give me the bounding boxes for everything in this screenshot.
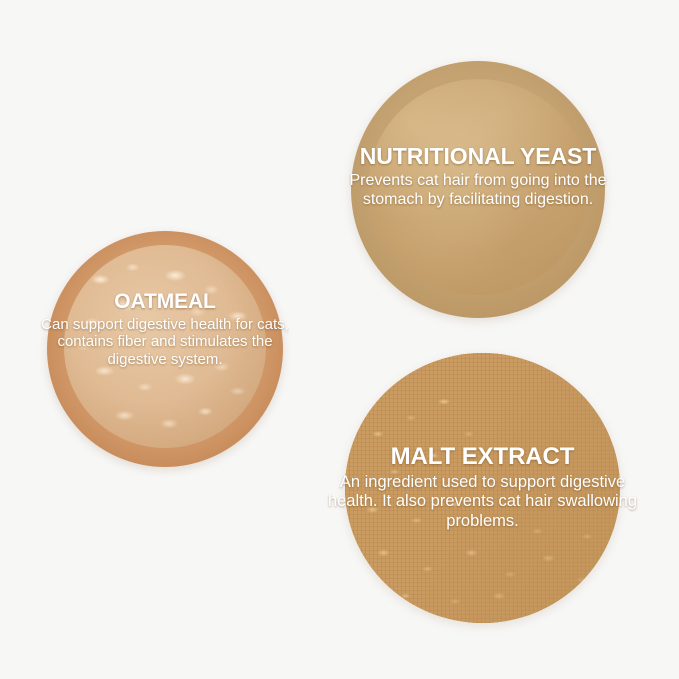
ingredient-infographic: OATMEAL Can support digestive health for… — [0, 0, 679, 679]
oatmeal-description: Can support digestive health for cats, c… — [28, 316, 302, 369]
yeast-caption: NUTRITIONAL YEAST Prevents cat hair from… — [331, 145, 626, 209]
ingredient-card-malt-extract[interactable]: MALT EXTRACT An ingredient used to suppo… — [345, 353, 620, 623]
malt-description: An ingredient used to support digestive … — [323, 473, 642, 531]
malt-caption: MALT EXTRACT An ingredient used to suppo… — [323, 445, 642, 531]
ingredient-card-nutritional-yeast[interactable]: NUTRITIONAL YEAST Prevents cat hair from… — [351, 61, 605, 318]
oatmeal-caption: OATMEAL Can support digestive health for… — [28, 291, 302, 368]
malt-title: MALT EXTRACT — [323, 445, 642, 470]
ingredient-card-oatmeal[interactable]: OATMEAL Can support digestive health for… — [47, 231, 283, 467]
yeast-description: Prevents cat hair from going into the st… — [331, 172, 626, 209]
yeast-title: NUTRITIONAL YEAST — [331, 145, 626, 169]
oatmeal-title: OATMEAL — [28, 291, 302, 313]
